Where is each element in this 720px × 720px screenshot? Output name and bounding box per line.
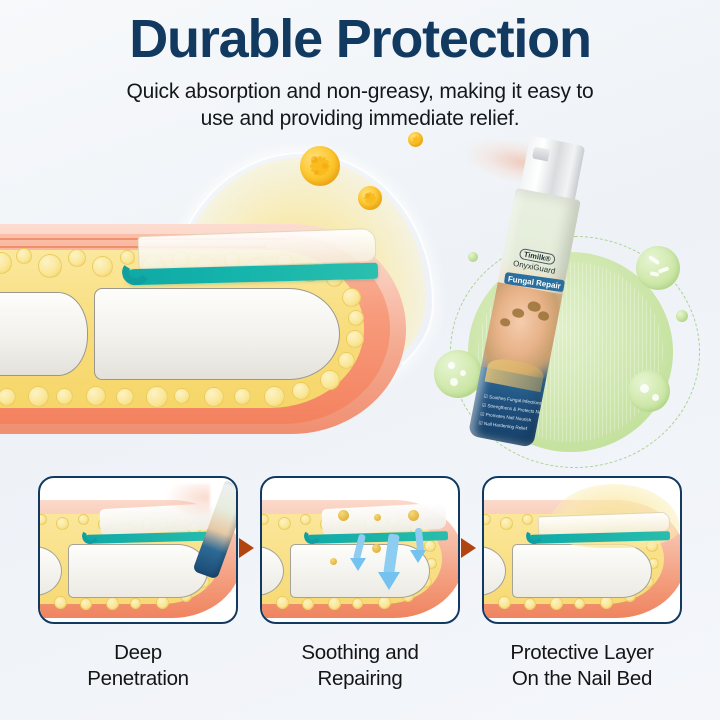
active-ingredient-droplet (330, 558, 337, 565)
spray-mist (166, 484, 210, 518)
step-caption-line-2: Repairing (260, 666, 460, 692)
product-scene: Timilk® OnyxiGuard Fungal Repair Herbal … (430, 140, 720, 470)
subtitle-line-2: use and providing immediate relief. (0, 105, 720, 132)
infographic-page: Durable Protection Quick absorption and … (0, 0, 720, 720)
fungal-germ-icon (300, 146, 340, 186)
fungal-germ-icon (408, 132, 423, 147)
step-image-card (38, 476, 238, 624)
step-deep-penetration: Deep Penetration (38, 476, 238, 691)
step-image-card (482, 476, 682, 624)
active-ingredient-droplet (374, 514, 381, 521)
header: Durable Protection Quick absorption and … (0, 0, 720, 133)
page-title: Durable Protection (0, 0, 720, 66)
molecule-icon (468, 252, 478, 262)
nail-cross-section-diagram (0, 204, 456, 456)
molecule-icon (676, 310, 688, 322)
step-caption-line-1: Deep (38, 640, 238, 666)
active-ingredient-droplet (338, 510, 349, 521)
active-ingredient-droplet (408, 510, 419, 521)
step-caption: Deep Penetration (38, 640, 238, 691)
step-caption-line-2: On the Nail Bed (482, 666, 682, 692)
subtitle-line-1: Quick absorption and non-greasy, making … (0, 78, 720, 105)
bone-middle-phalanx (0, 292, 88, 376)
penetration-arrow-icon (350, 558, 366, 571)
step-soothing-repairing: Soothing and Repairing (260, 476, 460, 691)
benefit-list: Soothes Fungal Infections Strengthens & … (478, 392, 546, 439)
bone-distal-phalanx (94, 288, 340, 380)
molecule-icon (636, 246, 680, 290)
step-caption-line-1: Soothing and (260, 640, 460, 666)
step-caption-line-1: Protective Layer (482, 640, 682, 666)
bottle-label: Timilk® OnyxiGuard Fungal Repair Herbal … (468, 188, 581, 448)
step-arrow-icon (239, 538, 254, 558)
steps-section: Deep Penetration (0, 476, 720, 720)
penetration-arrow-icon (410, 550, 426, 563)
page-subtitle: Quick absorption and non-greasy, making … (0, 66, 720, 133)
step-image-card (260, 476, 460, 624)
step-caption: Soothing and Repairing (260, 640, 460, 691)
active-ingredient-droplet (372, 544, 381, 553)
penetration-arrow-icon (378, 572, 400, 590)
spray-mist (464, 132, 531, 183)
step-protective-layer: Protective Layer On the Nail Bed (482, 476, 682, 691)
step-arrow-icon (461, 538, 476, 558)
step-caption: Protective Layer On the Nail Bed (482, 640, 682, 691)
spray-nozzle-icon (532, 147, 550, 162)
mini-cross-section (260, 500, 460, 624)
molecule-icon (628, 370, 670, 412)
mini-cross-section (482, 500, 682, 624)
step-caption-line-2: Penetration (38, 666, 238, 692)
